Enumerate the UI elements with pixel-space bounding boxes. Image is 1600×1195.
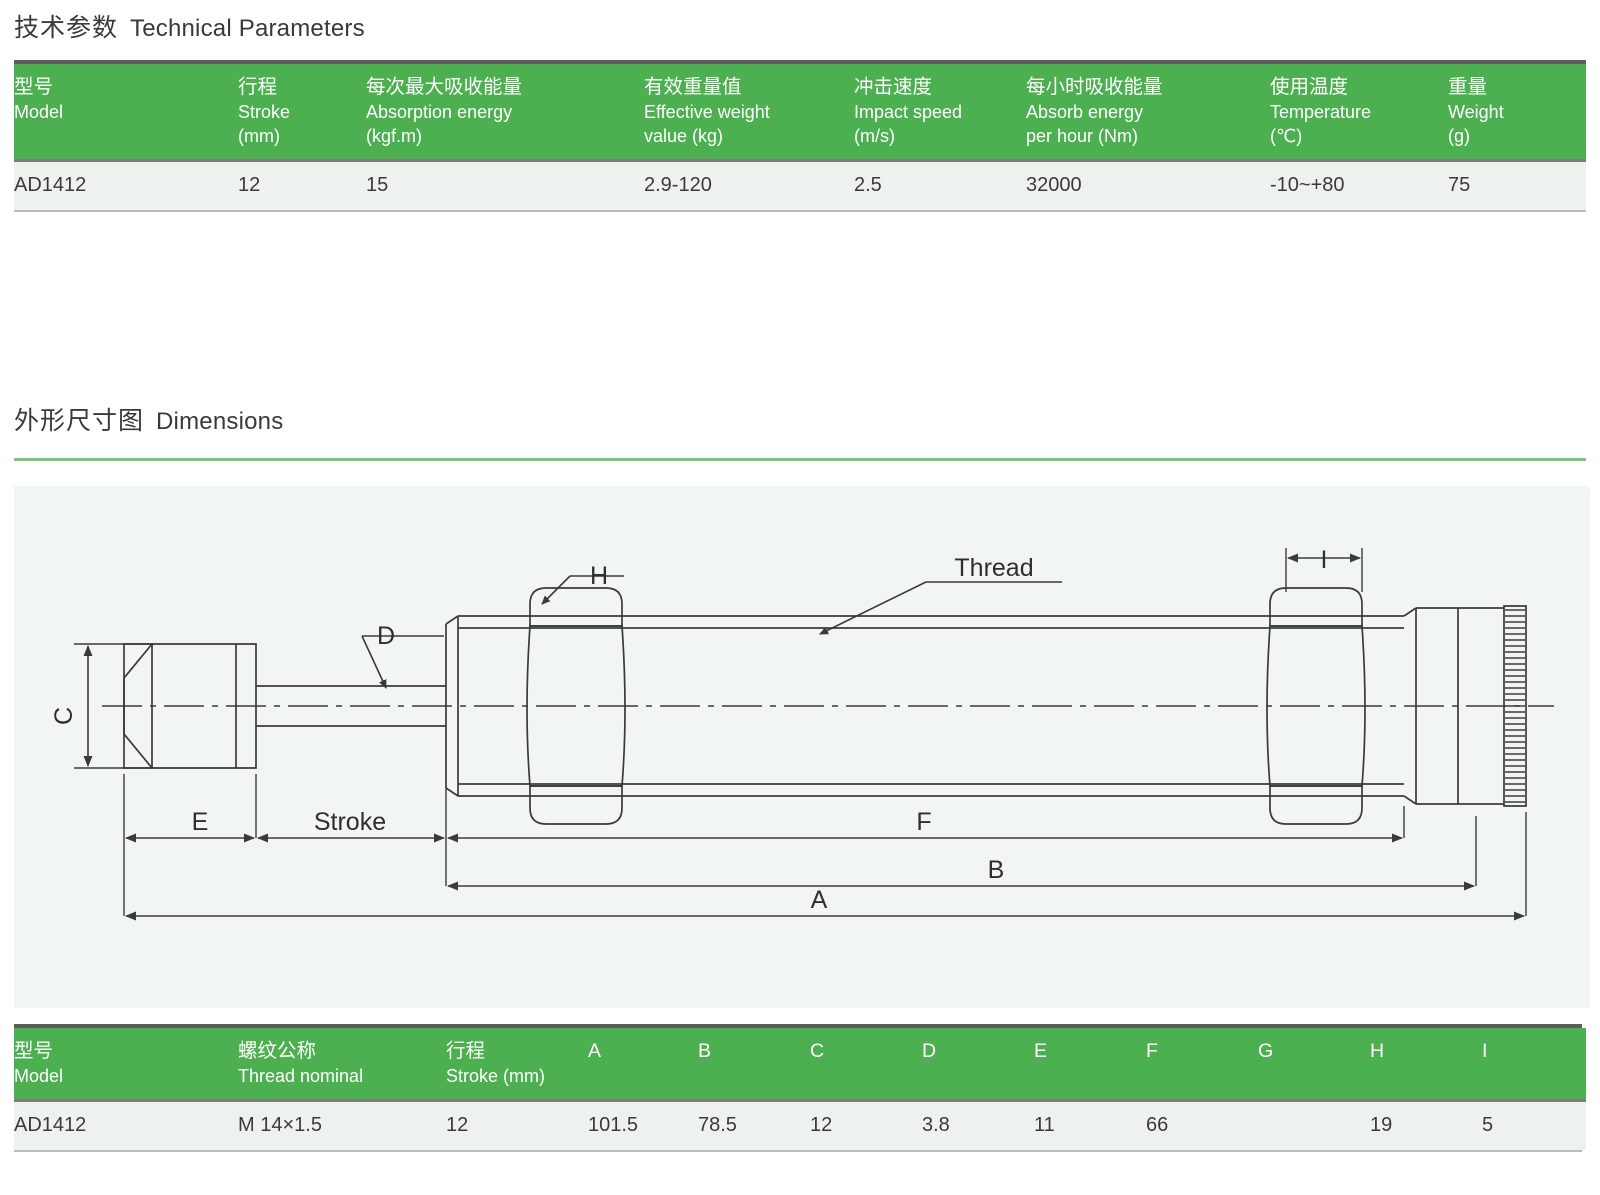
dimensions-divider <box>14 458 1586 461</box>
dimensions-heading-en: Dimensions <box>156 408 283 435</box>
th-absorbhr-en: Absorb energy <box>1026 101 1270 125</box>
th-absorption-unit: (kgf.m) <box>366 125 644 149</box>
th-absorption-cn: 每次最大吸收能量 <box>366 75 644 101</box>
td-model: AD1412 <box>14 162 238 210</box>
body-left-chamfer-bottom <box>446 788 458 796</box>
table-row: AD1412 M 14×1.5 12 101.5 78.5 12 3.8 11 … <box>14 1102 1586 1150</box>
dim-label-H: H <box>590 562 608 590</box>
td-effective-weight: 2.9-120 <box>644 162 854 210</box>
dth-stroke: 行程 Stroke (mm) <box>446 1028 588 1102</box>
dth-H: H <box>1370 1028 1482 1102</box>
dth-thread-en: Thread nominal <box>238 1065 446 1089</box>
dim-label-C: C <box>50 707 78 725</box>
dimension-table: 型号 Model 螺纹公称 Thread nominal 行程 Stroke (… <box>14 1024 1586 1152</box>
th-impact-speed: 冲击速度 Impact speed (m/s) <box>854 64 1026 162</box>
dtd-B: 78.5 <box>698 1102 810 1150</box>
th-model-en: Model <box>14 101 238 125</box>
dth-I-label: I <box>1482 1039 1582 1065</box>
td-stroke: 12 <box>238 162 366 210</box>
th-stroke: 行程 Stroke (mm) <box>238 64 366 162</box>
table-bottom-border <box>14 210 1586 212</box>
dth-E-label: E <box>1034 1039 1146 1065</box>
hex-nut-right-bottom-face <box>1270 786 1362 824</box>
dtd-model: AD1412 <box>14 1102 238 1150</box>
tech-heading-en: Technical Parameters <box>130 15 365 42</box>
dimension-arrows <box>88 558 1524 916</box>
td-absorption-energy: 15 <box>366 162 644 210</box>
th-stroke-en: Stroke <box>238 101 366 125</box>
dim-label-E: E <box>192 808 209 836</box>
endcap-chamfer-bottom <box>1404 796 1416 804</box>
dth-model-cn: 型号 <box>14 1039 238 1065</box>
dth-thread-cn: 螺纹公称 <box>238 1039 446 1065</box>
dth-D: D <box>922 1028 1034 1102</box>
dtd-A: 101.5 <box>588 1102 698 1150</box>
knurl-hatching <box>1505 610 1525 802</box>
leader-thread <box>820 582 926 634</box>
dth-thread-nominal: 螺纹公称 Thread nominal <box>238 1028 446 1102</box>
dim-label-thread: Thread <box>954 554 1033 582</box>
dth-C: C <box>810 1028 922 1102</box>
dth-H-label: H <box>1370 1039 1482 1065</box>
th-effweight-en: Effective weight <box>644 101 854 125</box>
table-row: AD1412 12 15 2.9-120 2.5 32000 -10~+80 7… <box>14 162 1586 210</box>
th-weight-en: Weight <box>1448 101 1586 125</box>
dimtable-header-row: 型号 Model 螺纹公称 Thread nominal 行程 Stroke (… <box>14 1028 1586 1102</box>
dtd-D: 3.8 <box>922 1102 1034 1150</box>
dim-label-D: D <box>377 622 395 650</box>
dth-C-label: C <box>810 1039 922 1065</box>
dim-label-F: F <box>916 808 931 836</box>
dtd-E: 11 <box>1034 1102 1146 1150</box>
th-weight: 重量 Weight (g) <box>1448 64 1586 162</box>
leader-lines <box>362 576 1062 688</box>
dth-F: F <box>1146 1028 1258 1102</box>
piston-cap-chamfer-bottom <box>124 734 152 768</box>
table-header-row: 型号 Model 行程 Stroke (mm) 每次最大吸收能量 Absorpt… <box>14 64 1586 162</box>
th-absorption-en: Absorption energy <box>366 101 644 125</box>
th-temp-cn: 使用温度 <box>1270 75 1448 101</box>
td-temperature: -10~+80 <box>1270 162 1448 210</box>
dth-model: 型号 Model <box>14 1028 238 1102</box>
dth-D-label: D <box>922 1039 1034 1065</box>
dtd-F: 66 <box>1146 1102 1258 1150</box>
dtd-G <box>1258 1102 1370 1150</box>
th-stroke-unit: (mm) <box>238 125 366 149</box>
th-impact-unit: (m/s) <box>854 125 1026 149</box>
dth-A-label: A <box>588 1039 698 1065</box>
dth-B: B <box>698 1028 810 1102</box>
leader-H <box>542 576 570 604</box>
dth-E: E <box>1034 1028 1146 1102</box>
dth-F-label: F <box>1146 1039 1258 1065</box>
dimensions-heading: 外形尺寸图Dimensions <box>14 401 283 437</box>
dimtable-bottom-border <box>14 1150 1586 1152</box>
dth-I: I <box>1482 1028 1582 1102</box>
dtd-C: 12 <box>810 1102 922 1150</box>
piston-cap-chamfer-top <box>124 644 152 678</box>
dth-model-en: Model <box>14 1065 238 1089</box>
body-left-chamfer-top <box>446 616 458 624</box>
dth-stroke-cn: 行程 <box>446 1039 588 1065</box>
dimensions-heading-cn: 外形尺寸图 <box>14 407 144 435</box>
dim-label-Stroke: Stroke <box>314 808 386 836</box>
dim-label-A: A <box>811 886 828 914</box>
dth-B-label: B <box>698 1039 810 1065</box>
dimension-drawing-svg: C D H I Thread E Stroke F B A <box>14 486 1590 1008</box>
th-impact-cn: 冲击速度 <box>854 75 1026 101</box>
hex-nut-left-bottom-face <box>530 786 622 824</box>
th-model: 型号 Model <box>14 64 238 162</box>
th-impact-en: Impact speed <box>854 101 1026 125</box>
dth-G-label: G <box>1258 1039 1370 1065</box>
tech-parameters-heading: 技术参数Technical Parameters <box>14 8 365 44</box>
endcap-chamfer-top <box>1404 608 1416 616</box>
th-absorbhr-unit: per hour (Nm) <box>1026 125 1270 149</box>
td-impact-speed: 2.5 <box>854 162 1026 210</box>
dtd-H: 19 <box>1370 1102 1482 1150</box>
th-model-cn: 型号 <box>14 75 238 101</box>
th-effective-weight: 有效重量值 Effective weight value (kg) <box>644 64 854 162</box>
dim-label-I: I <box>1321 546 1328 574</box>
dtd-stroke: 12 <box>446 1102 588 1150</box>
th-effweight-unit: value (kg) <box>644 125 854 149</box>
dth-A: A <box>588 1028 698 1102</box>
dimensions-drawing-panel: C D H I Thread E Stroke F B A <box>14 486 1590 1008</box>
technical-parameters-table: 型号 Model 行程 Stroke (mm) 每次最大吸收能量 Absorpt… <box>14 60 1586 212</box>
th-stroke-cn: 行程 <box>238 75 366 101</box>
td-weight: 75 <box>1448 162 1586 210</box>
th-temp-en: Temperature <box>1270 101 1448 125</box>
th-weight-cn: 重量 <box>1448 75 1586 101</box>
dth-G: G <box>1258 1028 1370 1102</box>
th-absorbhr-cn: 每小时吸收能量 <box>1026 75 1270 101</box>
dth-stroke-en: Stroke (mm) <box>446 1065 588 1089</box>
hex-nut-right-top-face <box>1270 588 1362 626</box>
hex-nut-left-top-face <box>530 588 622 626</box>
dtd-thread-nominal: M 14×1.5 <box>238 1102 446 1150</box>
th-absorb-per-hour: 每小时吸收能量 Absorb energy per hour (Nm) <box>1026 64 1270 162</box>
tech-heading-cn: 技术参数 <box>14 14 118 42</box>
dim-label-B: B <box>988 856 1005 884</box>
th-temp-unit: (℃) <box>1270 125 1448 149</box>
extension-lines <box>74 548 1526 916</box>
dtd-I: 5 <box>1482 1102 1582 1150</box>
th-absorption-energy: 每次最大吸收能量 Absorption energy (kgf.m) <box>366 64 644 162</box>
th-weight-unit: (g) <box>1448 125 1586 149</box>
th-effweight-cn: 有效重量值 <box>644 75 854 101</box>
th-temperature: 使用温度 Temperature (℃) <box>1270 64 1448 162</box>
td-absorb-per-hour: 32000 <box>1026 162 1270 210</box>
